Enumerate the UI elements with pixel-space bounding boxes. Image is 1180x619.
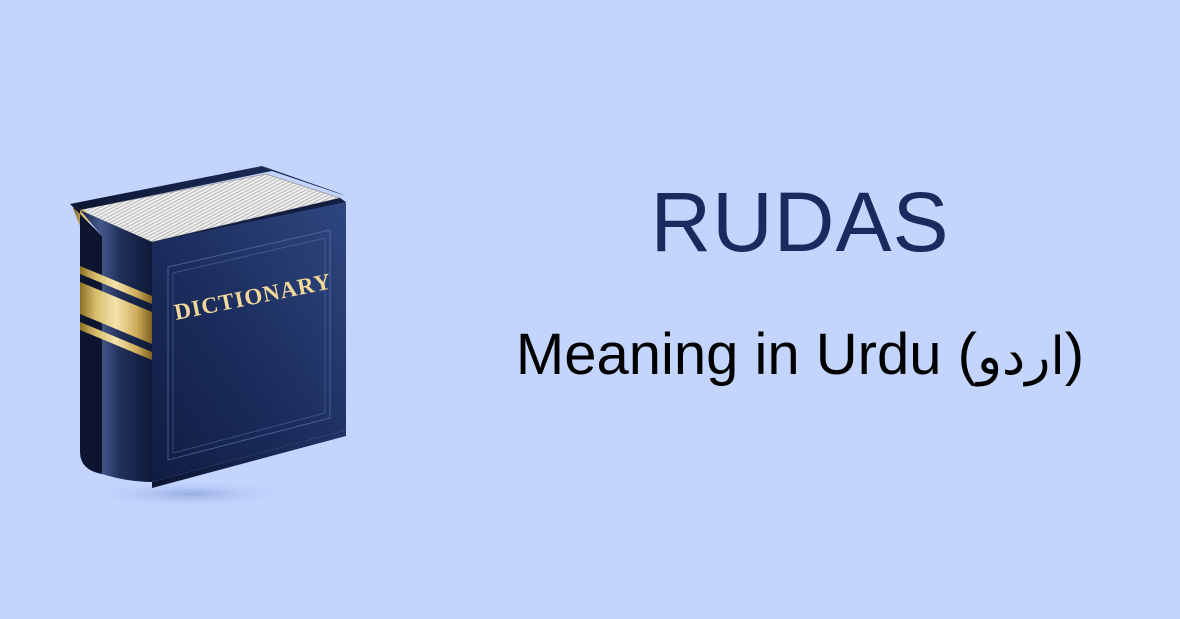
page-title: RUDAS — [650, 180, 949, 264]
subtitle-space — [941, 322, 957, 387]
book-front-cover — [152, 202, 346, 488]
subtitle-open-paren: ( — [958, 322, 977, 387]
dictionary-book-icon: DICTIONARY — [40, 130, 360, 520]
book-spine — [70, 204, 152, 482]
subtitle: Meaning in Urdu (اردو) — [516, 326, 1084, 384]
page-root: DICTIONARY RUDAS Meaning in Urdu (اردو) — [0, 0, 1180, 619]
word-text-block: RUDAS Meaning in Urdu (اردو) — [420, 180, 1180, 480]
book-shadow — [85, 480, 295, 508]
subtitle-urdu-text: اردو — [977, 327, 1065, 387]
subtitle-english-text: Meaning in Urdu — [516, 322, 942, 387]
subtitle-close-paren: ) — [1065, 322, 1084, 387]
